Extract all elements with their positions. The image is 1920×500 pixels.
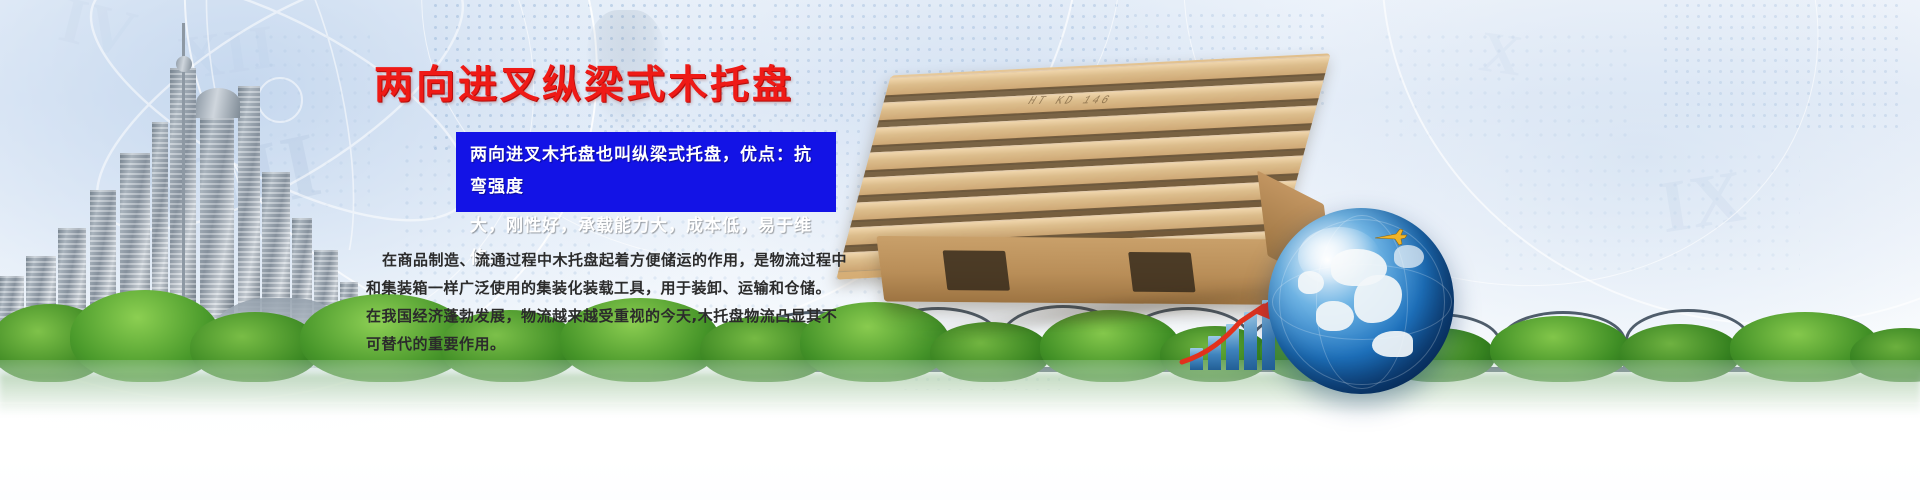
globe-highlight	[1298, 227, 1380, 287]
dot-matrix-block	[1660, 0, 1900, 130]
paragraph-line-3: 在我国经济蓬勃发展，物流越来越受重视的今天,木托盘物流凸显其不	[366, 302, 886, 330]
earth-globe-icon	[1268, 208, 1454, 394]
callout-box: 两向进叉木托盘也叫纵梁式托盘，优点：抗弯强度 大，刚性好，承载能力大，成本低，易…	[456, 132, 836, 212]
description-paragraph: 在商品制造、流通过程中木托盘起着方便储运的作用，是物流过程中 和集装箱一样广泛使…	[366, 246, 886, 358]
callout-line-1: 两向进叉木托盘也叫纵梁式托盘，优点：抗弯强度	[456, 132, 836, 203]
dot-matrix-block	[1380, 30, 1630, 140]
pallet-fork-notch	[943, 250, 1010, 290]
globe-landmass	[1372, 331, 1413, 357]
green-reflection	[0, 374, 1920, 414]
page-title: 两向进叉纵梁式木托盘	[374, 54, 794, 110]
roman-numeral-decor: X	[1476, 17, 1529, 89]
globe-landmass	[1394, 245, 1424, 267]
product-banner: VIII XII VI IX X IV	[0, 0, 1920, 500]
water-ripple	[0, 420, 1920, 422]
roman-numeral-decor: IX	[1654, 154, 1752, 251]
paragraph-line-2: 和集装箱一样广泛使用的集装化装载工具，用于装卸、运输和仓储。	[366, 274, 886, 302]
water-ripple	[0, 460, 1920, 462]
pallet-fork-notch	[1128, 252, 1195, 292]
dot-matrix-block	[1500, 150, 1800, 270]
water-ripple	[0, 440, 1920, 442]
tv-tower-ball	[176, 56, 192, 72]
globe-landmass	[1316, 301, 1353, 331]
roman-numeral-decor: IV	[52, 0, 145, 74]
water-reflection-area	[0, 360, 1920, 500]
paragraph-line-4: 可替代的重要作用。	[366, 330, 886, 358]
paragraph-line-1: 在商品制造、流通过程中木托盘起着方便储运的作用，是物流过程中	[366, 246, 886, 274]
pallet-stamp-text: HT KD 146	[1025, 95, 1115, 109]
airplane-icon	[1374, 228, 1408, 246]
dome-building	[196, 88, 240, 118]
